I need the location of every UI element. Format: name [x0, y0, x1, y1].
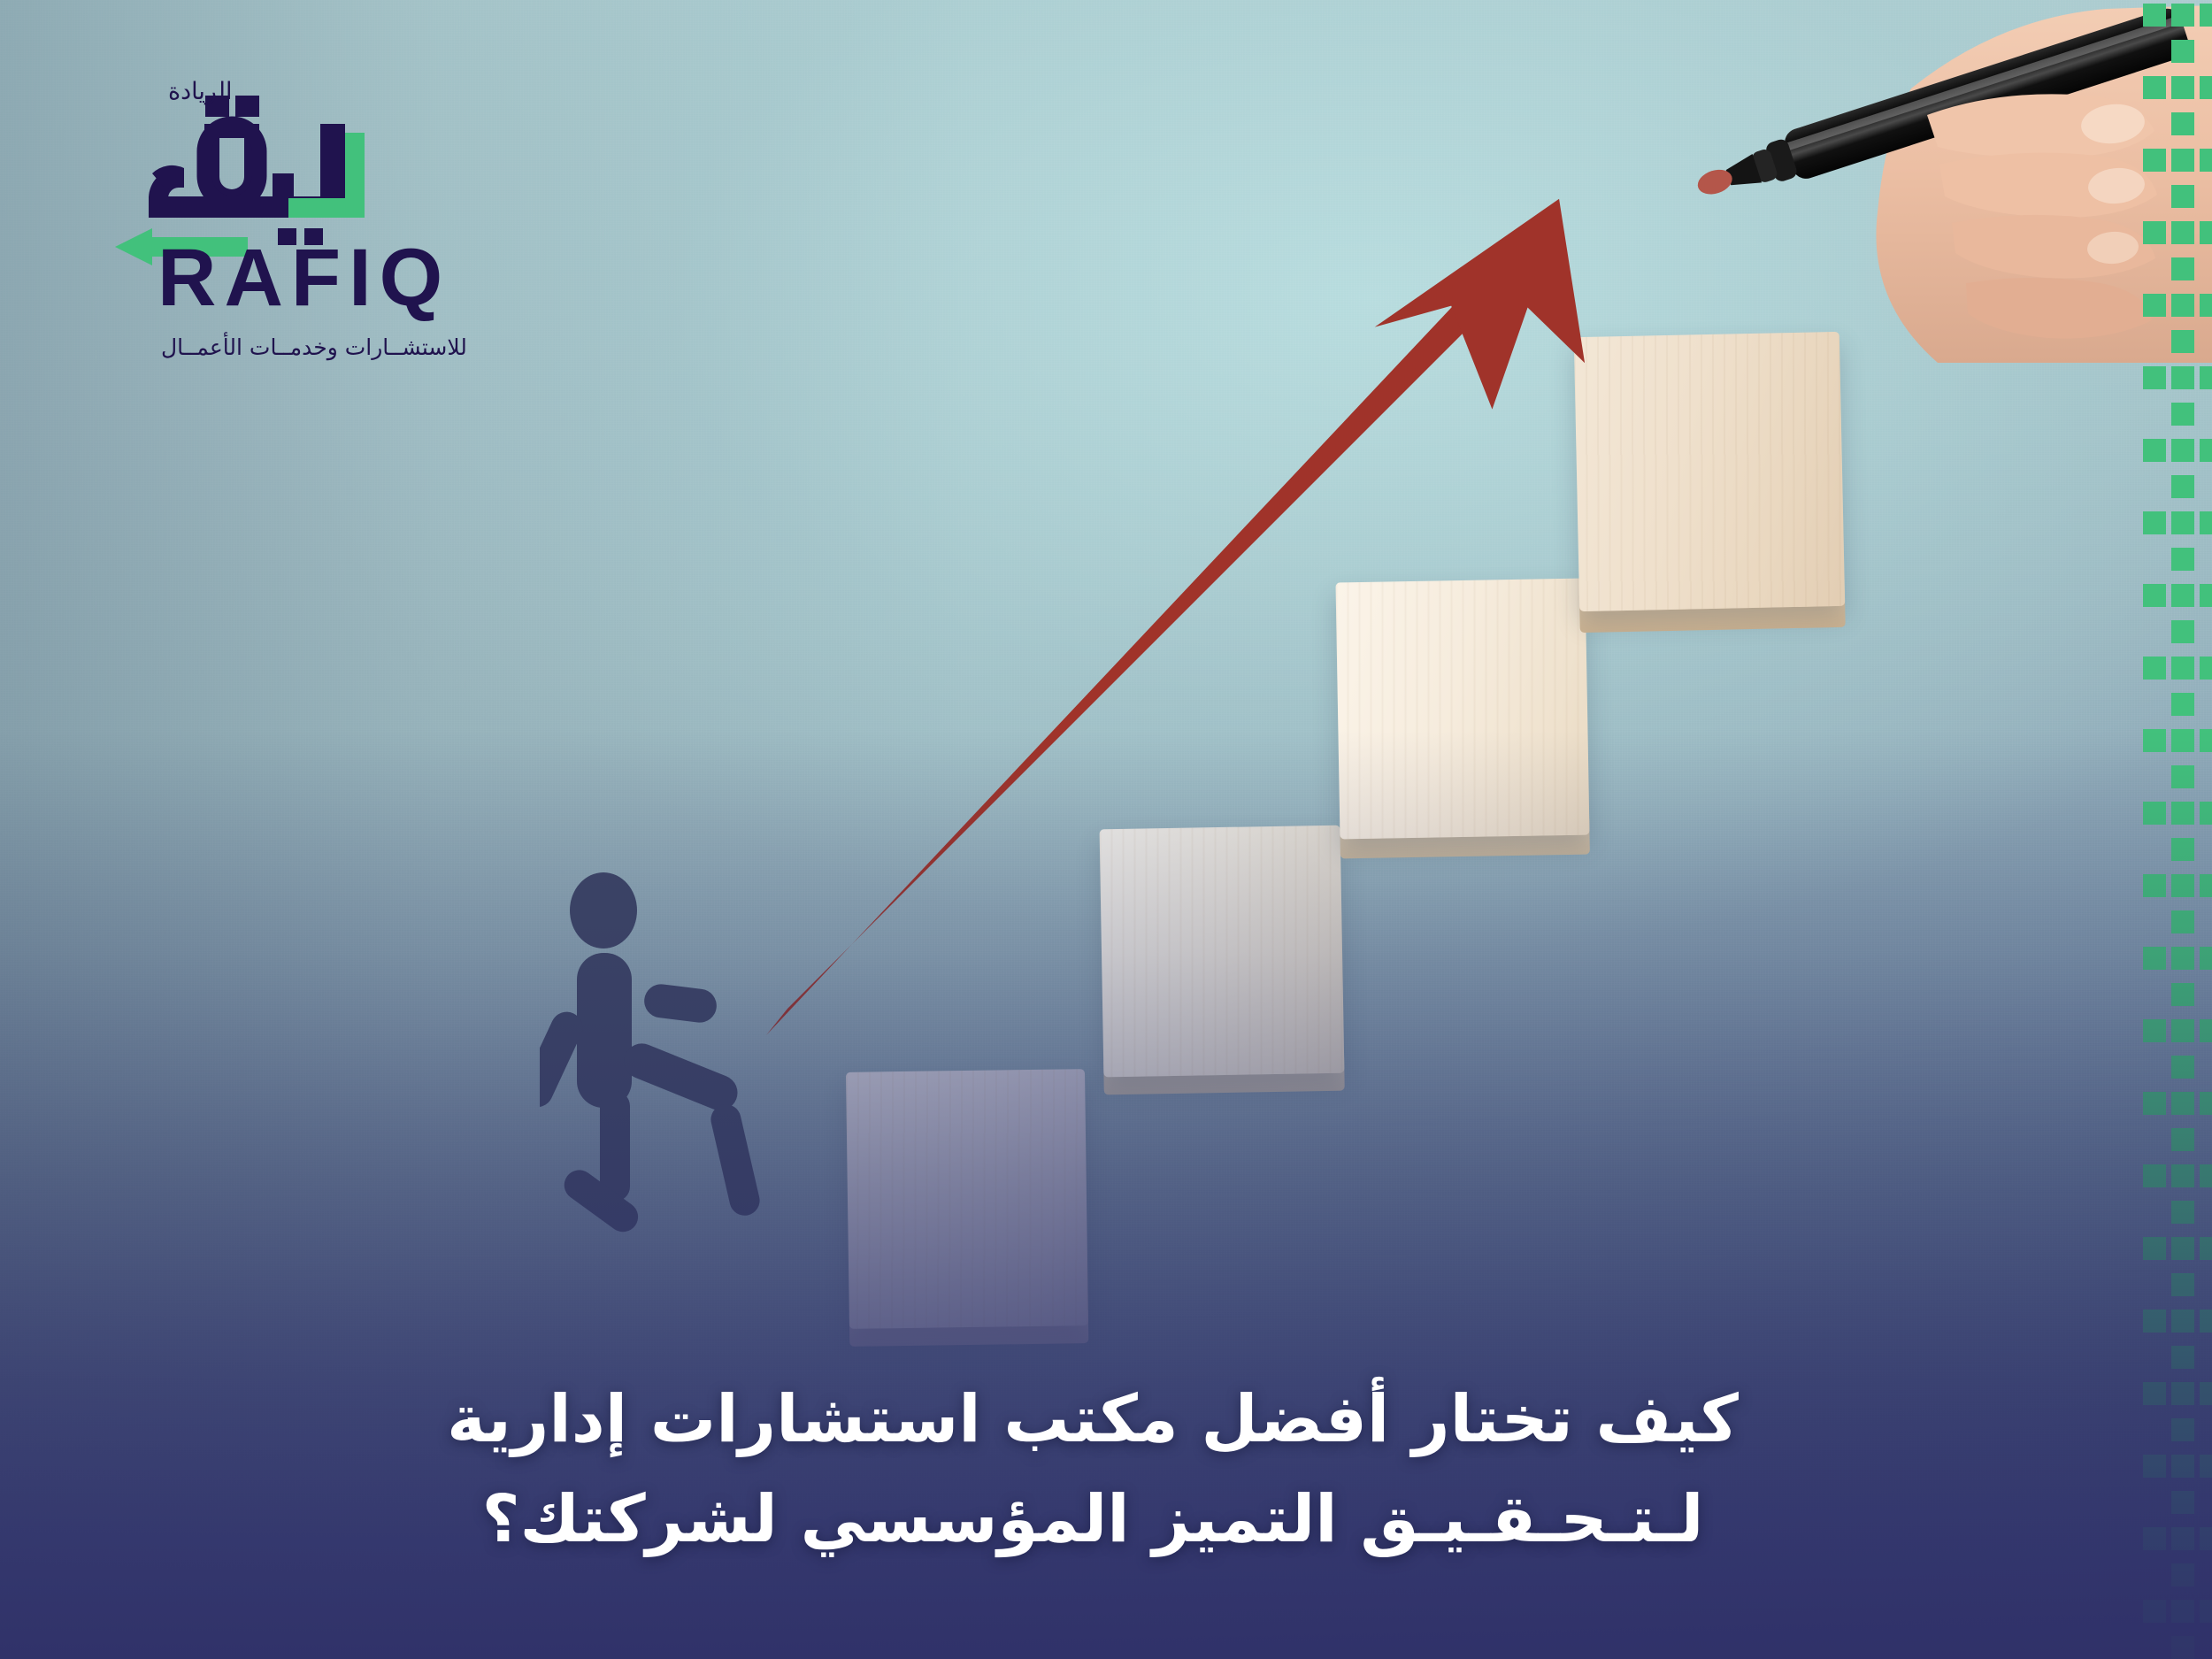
pattern-dot — [2143, 149, 2166, 172]
pattern-dot — [2143, 1600, 2166, 1623]
pattern-dot — [2171, 1237, 2194, 1260]
pattern-dot — [2171, 366, 2194, 389]
pattern-dot — [2171, 185, 2194, 208]
pattern-dot — [2171, 910, 2194, 933]
pattern-dot — [2200, 1092, 2212, 1115]
pattern-dot — [2143, 947, 2166, 970]
pattern-dot — [2143, 1164, 2166, 1187]
pattern-dot — [2171, 802, 2194, 825]
pattern-dot — [2171, 511, 2194, 534]
pattern-dot — [2143, 4, 2166, 27]
pattern-dot — [2171, 1310, 2194, 1333]
logo-latin-wordmark: RAFIQ — [157, 237, 450, 319]
pattern-dot — [2143, 221, 2166, 244]
pattern-dot — [2171, 403, 2194, 426]
pattern-dot — [2171, 1056, 2194, 1079]
pattern-dot — [2171, 874, 2194, 897]
pattern-dot — [2143, 729, 2166, 752]
pattern-dot — [2171, 1019, 2194, 1042]
pattern-dot — [2171, 475, 2194, 498]
hand-holding-marker-icon — [1646, 0, 2212, 363]
pattern-dot — [2200, 874, 2212, 897]
pattern-dot — [2171, 221, 2194, 244]
pattern-dot — [2200, 1237, 2212, 1260]
pattern-dot — [2171, 1092, 2194, 1115]
pattern-dot — [2200, 366, 2212, 389]
pattern-dot — [2171, 1600, 2194, 1623]
pattern-dot — [2143, 584, 2166, 607]
pattern-dot — [2171, 40, 2194, 63]
pattern-dot — [2200, 511, 2212, 534]
pattern-dot — [2200, 4, 2212, 27]
pattern-dot — [2171, 294, 2194, 317]
pattern-dot — [2171, 620, 2194, 643]
pattern-dot — [2143, 1310, 2166, 1333]
pattern-dot — [2143, 1019, 2166, 1042]
pattern-dot — [2171, 76, 2194, 99]
pattern-dot — [2200, 439, 2212, 462]
pattern-dot — [2143, 1092, 2166, 1115]
pattern-dot — [2171, 1346, 2194, 1369]
pattern-dot — [2171, 149, 2194, 172]
logo-arabic-tagline-bottom: للاستشــارات وخدمــات الأعمــال — [161, 334, 467, 360]
headline-line-2: لـتـحـقـيـق التميز المؤسسي لشركتك؟ — [265, 1470, 1920, 1569]
pattern-dot — [2171, 439, 2194, 462]
pattern-dot — [2171, 729, 2194, 752]
walking-person-icon — [540, 872, 805, 1287]
pattern-dot — [2200, 1019, 2212, 1042]
block-1-top — [846, 1069, 1088, 1329]
pattern-dot — [2143, 294, 2166, 317]
pattern-dot — [2171, 693, 2194, 716]
pattern-dot — [2171, 330, 2194, 353]
pattern-dot — [2171, 548, 2194, 571]
pattern-dot — [2143, 366, 2166, 389]
pattern-dot — [2171, 657, 2194, 680]
pattern-dot — [2171, 765, 2194, 788]
pattern-dot — [2200, 947, 2212, 970]
pattern-dot — [2171, 584, 2194, 607]
pattern-dot — [2143, 76, 2166, 99]
pattern-dot — [2171, 112, 2194, 135]
pattern-dot — [2200, 149, 2212, 172]
pattern-dot — [2200, 1310, 2212, 1333]
pattern-dot — [2171, 983, 2194, 1006]
pattern-dot — [2200, 221, 2212, 244]
poster-canvas: الريادة RAFIQ للاستشــارات وخدمــات الأع… — [0, 0, 2212, 1659]
wooden-block-1 — [846, 1069, 1088, 1329]
pattern-dot — [2171, 4, 2194, 27]
pattern-dot — [2171, 947, 2194, 970]
pattern-dot — [2200, 657, 2212, 680]
pattern-dot — [2171, 1128, 2194, 1151]
pattern-dot — [2143, 657, 2166, 680]
pattern-dot — [2171, 838, 2194, 861]
rafiq-logo[interactable]: الريادة RAFIQ للاستشــارات وخدمــات الأع… — [80, 35, 434, 336]
pattern-dot — [2171, 1636, 2194, 1659]
pattern-dot — [2200, 1600, 2212, 1623]
pattern-dot — [2143, 439, 2166, 462]
headline-line-1: كيف تختار أفضل مكتب استشارات إدارية — [265, 1370, 1920, 1469]
pattern-dot — [2200, 1164, 2212, 1187]
pattern-dot — [2143, 1237, 2166, 1260]
pattern-dot — [2200, 802, 2212, 825]
pattern-dot — [2171, 1273, 2194, 1296]
pattern-dot — [2143, 802, 2166, 825]
logo-arabic-tagline-top: الريادة — [168, 78, 233, 105]
pattern-dot — [2200, 584, 2212, 607]
pattern-dot — [2200, 729, 2212, 752]
pattern-dot — [2143, 511, 2166, 534]
headline-block: كيف تختار أفضل مكتب استشارات إدارية لـتـ… — [0, 1370, 2212, 1569]
pattern-dot — [2200, 76, 2212, 99]
pattern-dot — [2171, 257, 2194, 280]
pattern-dot — [2171, 1164, 2194, 1187]
pattern-dot — [2171, 1201, 2194, 1224]
pattern-dot — [2143, 874, 2166, 897]
ascending-arrow-icon — [761, 186, 1699, 1071]
pattern-dot — [2200, 294, 2212, 317]
